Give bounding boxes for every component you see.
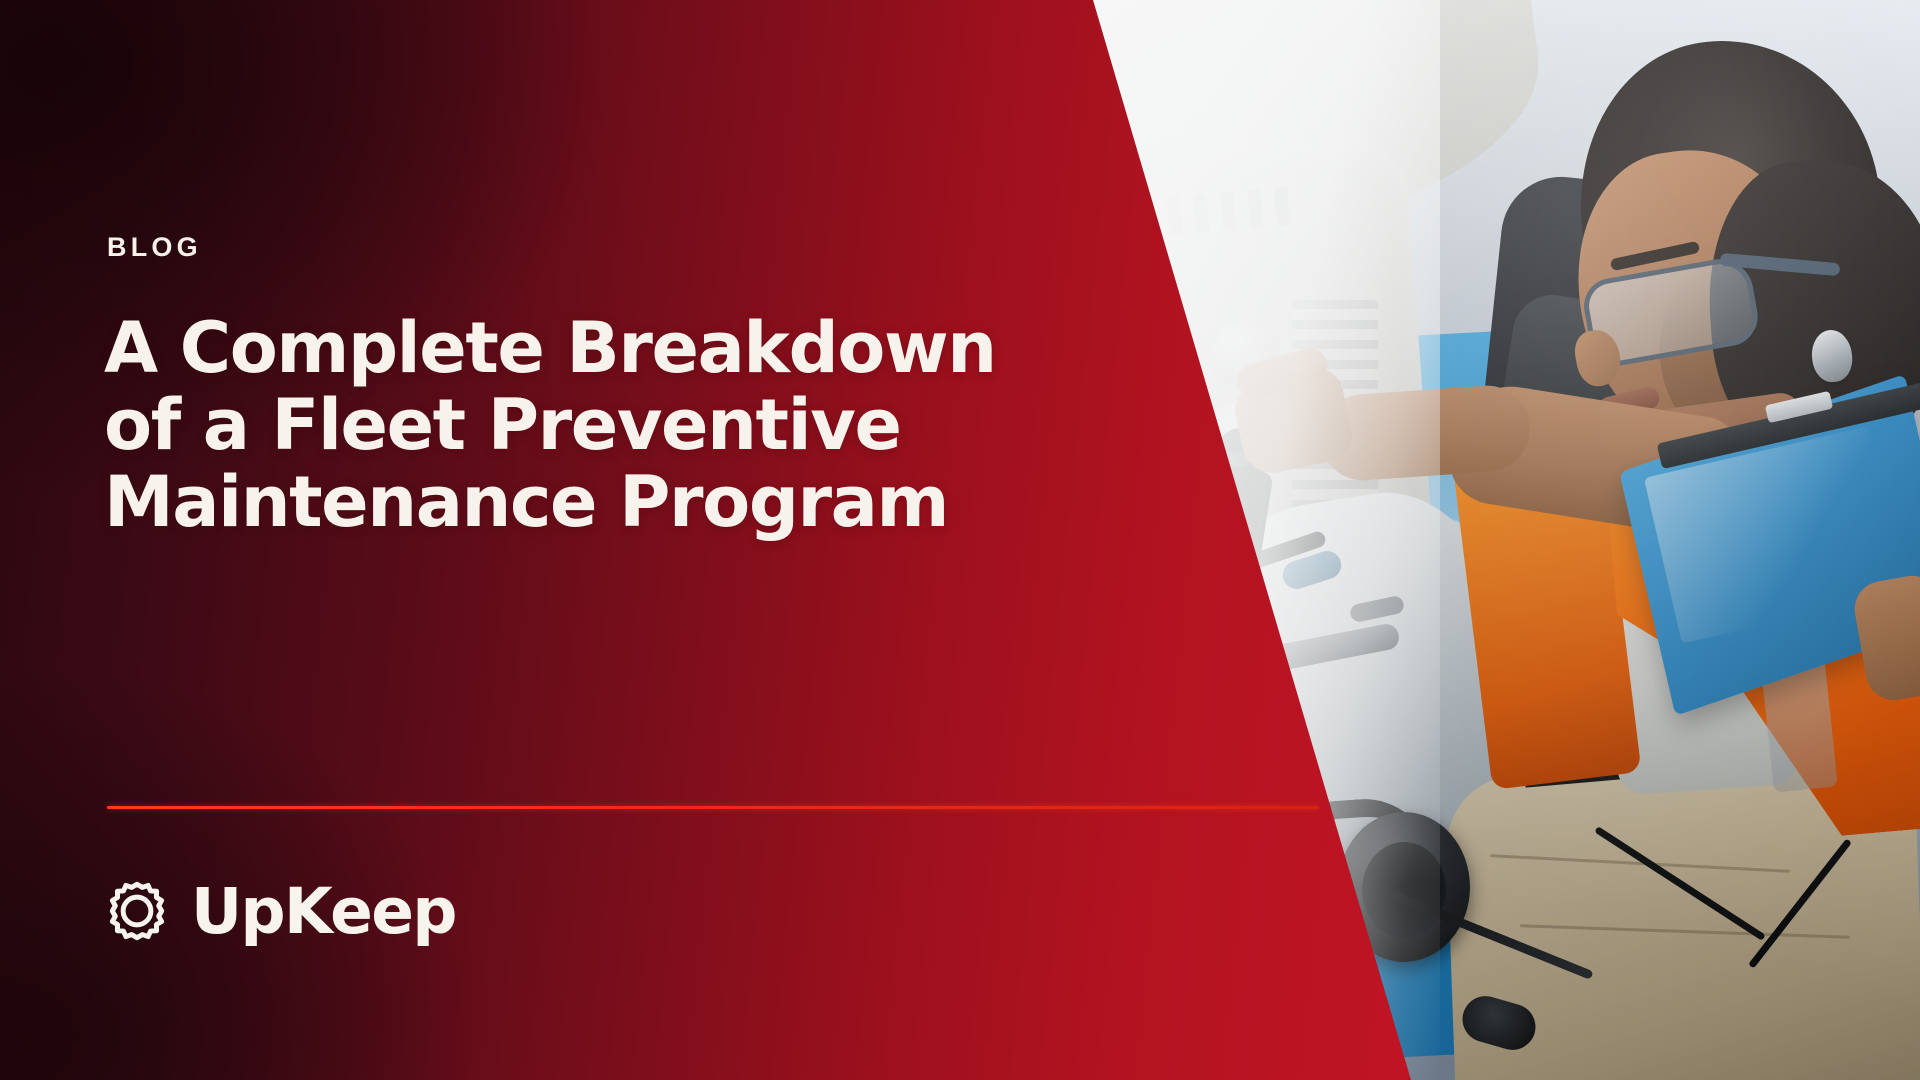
headline-line-3: Maintenance Program — [104, 464, 1164, 541]
page-title: A Complete Breakdown of a Fleet Preventi… — [104, 310, 1164, 541]
headline-line-1: A Complete Breakdown — [104, 310, 1164, 387]
upkeep-wordmark: UpKeep — [191, 880, 456, 943]
blog-banner-card: BLOG A Complete Breakdown of a Fleet Pre… — [0, 0, 1920, 1080]
upkeep-logo[interactable]: UpKeep — [104, 878, 456, 944]
eyebrow-label: BLOG — [107, 232, 202, 263]
horizontal-divider — [107, 806, 1319, 809]
gear-icon — [104, 878, 170, 944]
banner-content: BLOG A Complete Breakdown of a Fleet Pre… — [0, 0, 1430, 1080]
headline-line-2: of a Fleet Preventive — [104, 387, 1164, 464]
